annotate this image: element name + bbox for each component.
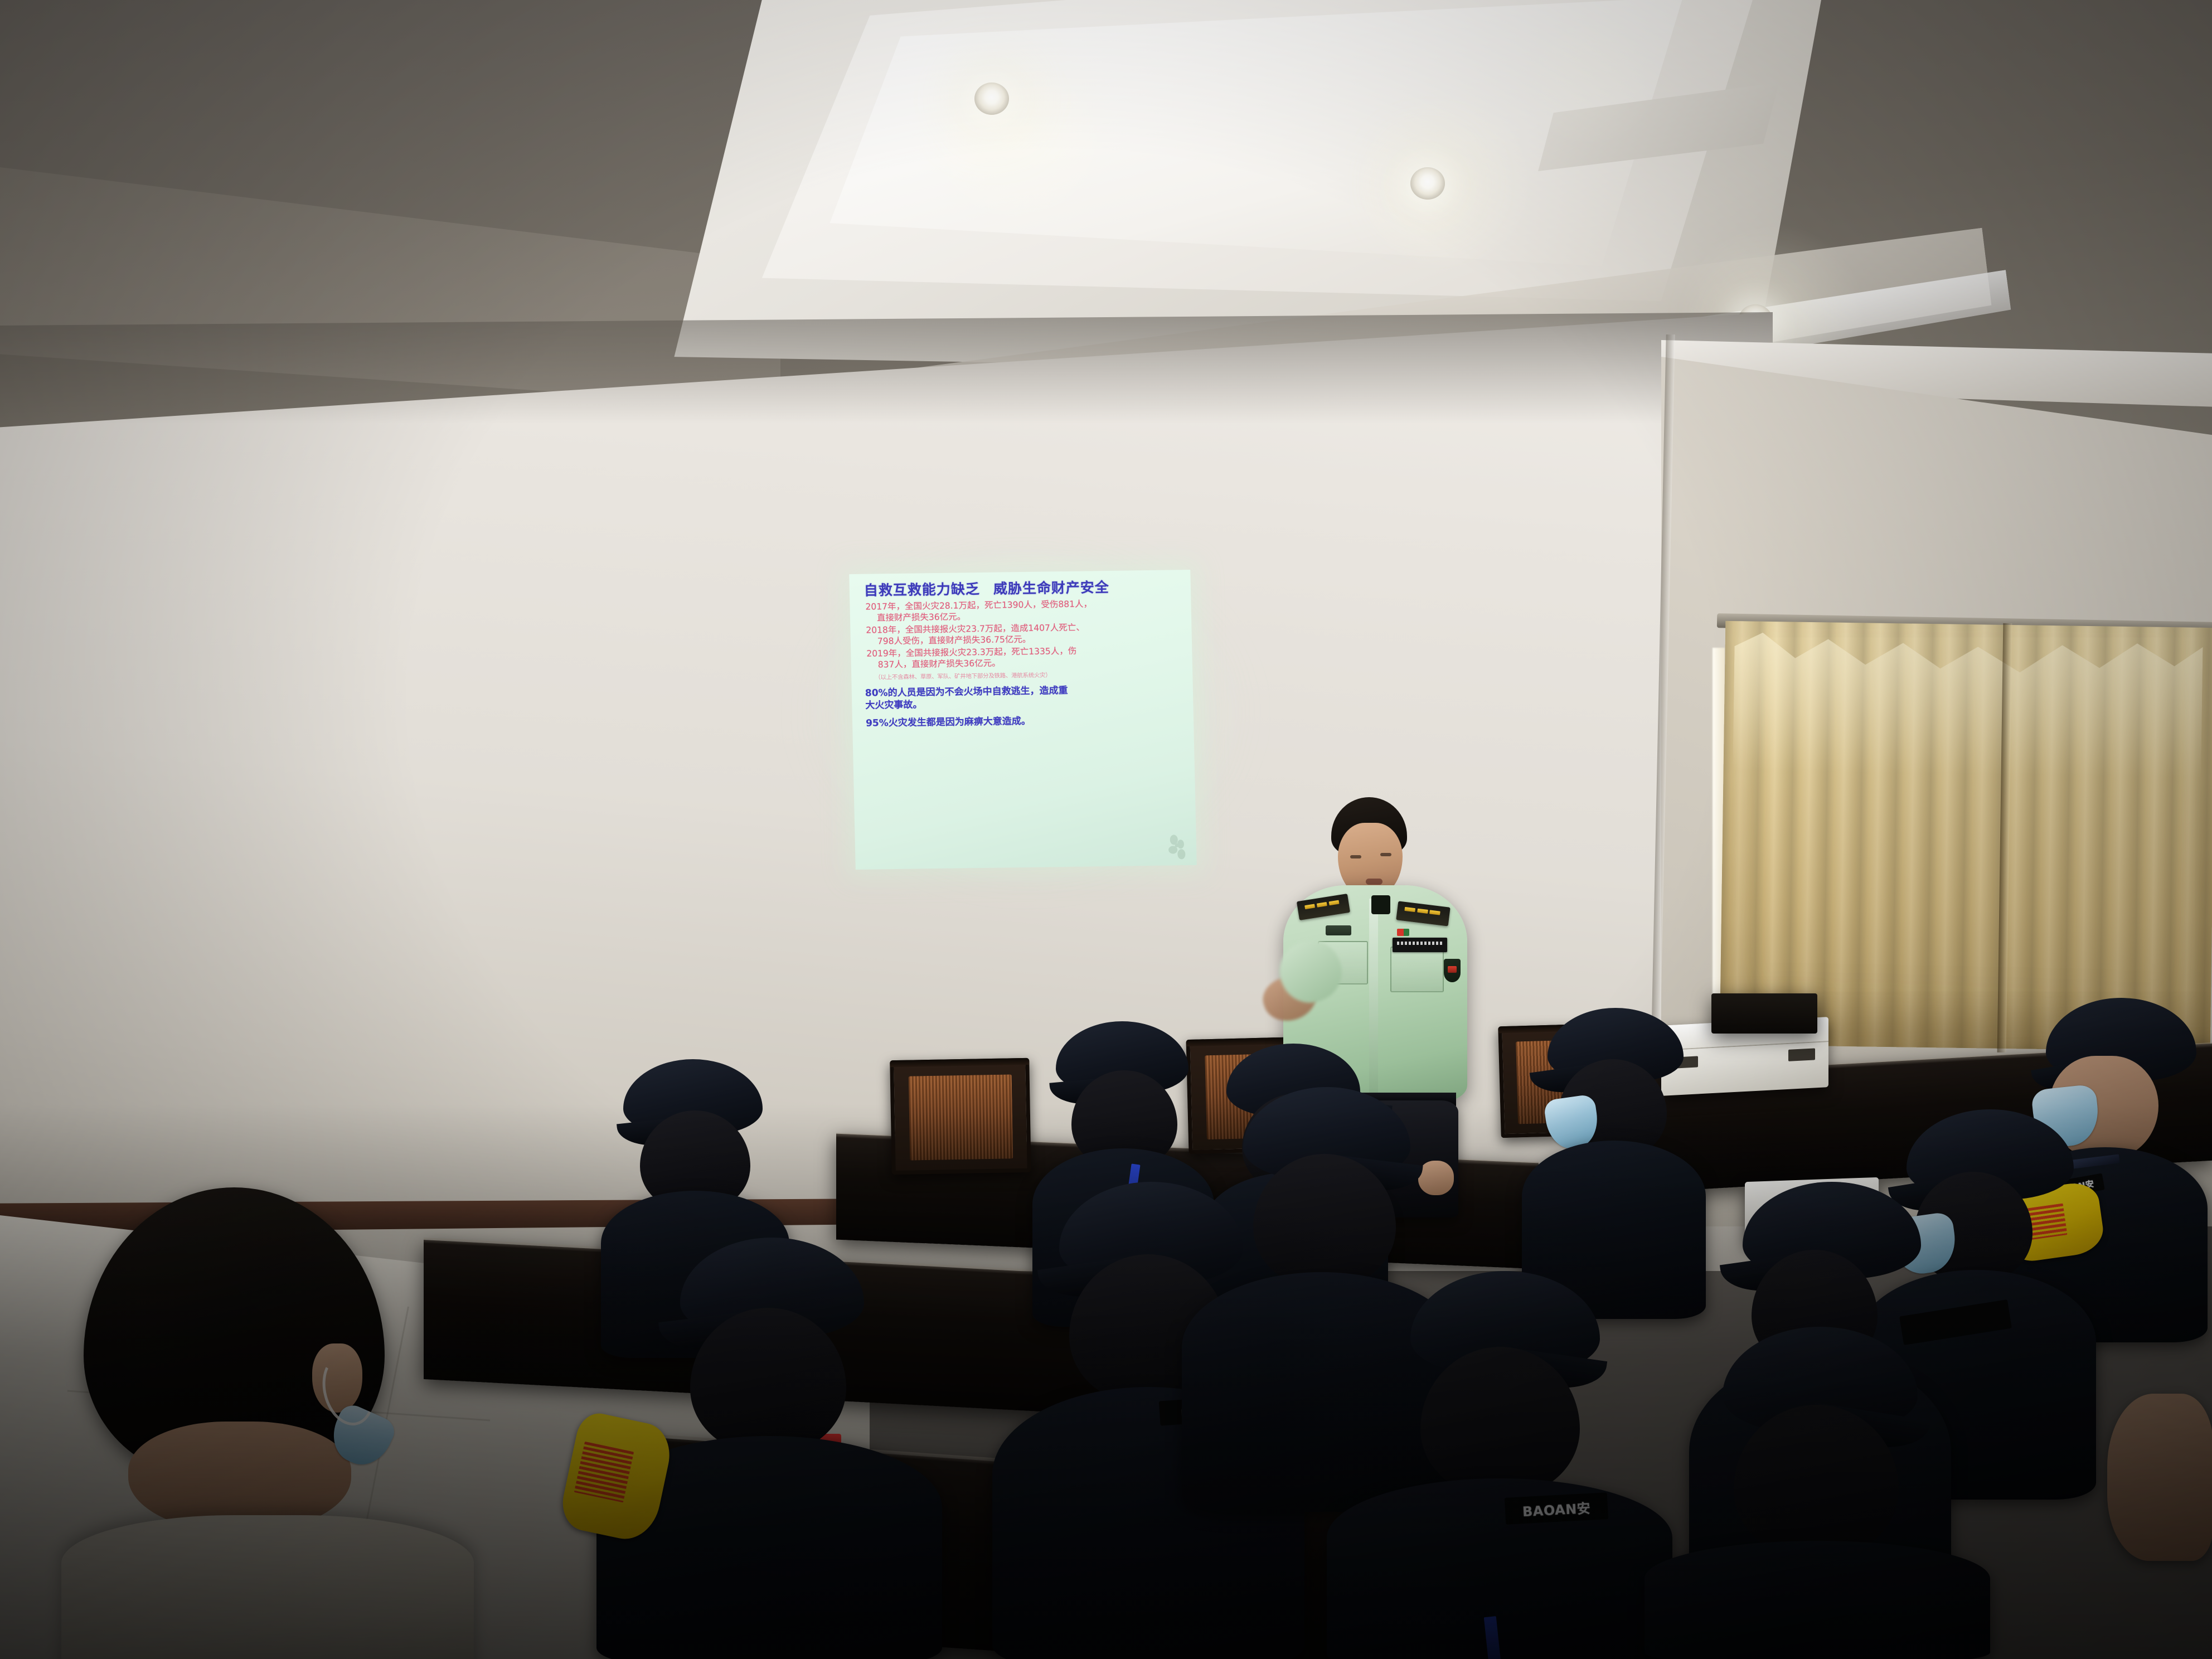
attendee-torso (1645, 1541, 1990, 1659)
presenter-name-badge (1393, 938, 1447, 952)
highlight-95-lead: 95%火灾发生都是因为麻痹大意造成。 (866, 715, 1031, 729)
highlight-80-lead: 80%的人员是因为不会火场中自救逃生，造成重 (865, 685, 1068, 699)
uniform-back-patch: BAOAN安 (1505, 1492, 1608, 1525)
chair-wood-panel (908, 1074, 1013, 1161)
slide-watermark-icon (1164, 833, 1190, 861)
slide-highlight-80: 80%的人员是因为不会火场中自救逃生，造成重 大火灾事故。 (865, 684, 1182, 712)
attendee-torso (1327, 1478, 1672, 1659)
stat-2019-lead: 2019年，全国共接报火灾23.3万起，死亡1335人，伤 (866, 646, 1076, 658)
attendee-hand-bottom-right (2107, 1394, 2212, 1561)
ceiling-downlight-2 (1410, 167, 1445, 200)
presenter-eye-right (1380, 853, 1391, 856)
presenter-eye-left (1350, 855, 1361, 858)
stat-2018-lead: 2018年，全国共接报火灾23.7万起，造成1407人死亡、 (866, 622, 1085, 635)
presenter-chest-insignia (1326, 925, 1351, 935)
presenter-pocket-right (1390, 947, 1444, 992)
presenter-flag-pin-icon (1397, 929, 1409, 936)
case-back-block (1711, 993, 1817, 1034)
projector-case-latch-1 (1788, 1049, 1815, 1061)
wall-top-shadow (0, 312, 1773, 424)
slide-stat-2017: 2017年，全国火灾28.1万起，死亡1390人，受伤881人， 直接财产损失3… (865, 597, 1180, 624)
training-room-photo: 自救互救能力缺乏威胁生命财产安全 2017年，全国火灾28.1万起，死亡1390… (0, 0, 2212, 1659)
presenter-mouth (1366, 879, 1382, 885)
chair-front-1[interactable] (890, 1058, 1031, 1175)
slide-stat-2019: 2019年，全国共接报火灾23.3万起，死亡1335人，伤 837人，直接财产损… (866, 644, 1181, 671)
slide-stat-2018: 2018年，全国共接报火灾23.7万起，造成1407人死亡、 798人受伤，直接… (866, 620, 1181, 647)
presenter-collar-gap (1371, 895, 1390, 914)
attendee-front-4[interactable]: BAOAN安 (1327, 1271, 1672, 1659)
attendee-front-5[interactable] (1633, 1327, 1990, 1659)
presenter-shoulder-patch (1444, 959, 1461, 982)
foreground-civilian[interactable] (61, 1187, 474, 1659)
slide-highlight-95: 95%火灾发生都是因为麻痹大意造成。 (866, 714, 1182, 730)
slide-title-right: 威胁生命财产安全 (993, 579, 1110, 597)
civilian-shirt (61, 1515, 474, 1659)
projected-slide: 自救互救能力缺乏威胁生命财产安全 2017年，全国火灾28.1万起，死亡1390… (849, 570, 1197, 870)
curtain-highlight (1733, 632, 2203, 778)
slide-title-left: 自救互救能力缺乏 (864, 581, 981, 599)
stat-2017-lead: 2017年，全国火灾28.1万起，死亡1390人，受伤881人， (865, 599, 1092, 612)
ceiling-downlight-1 (974, 83, 1009, 115)
slide-footnote: （以上不含森林、草原、军队、矿井地下部分及铁路、港航系统火灾） (875, 670, 1181, 682)
slide-title: 自救互救能力缺乏威胁生命财产安全 (864, 579, 1180, 599)
